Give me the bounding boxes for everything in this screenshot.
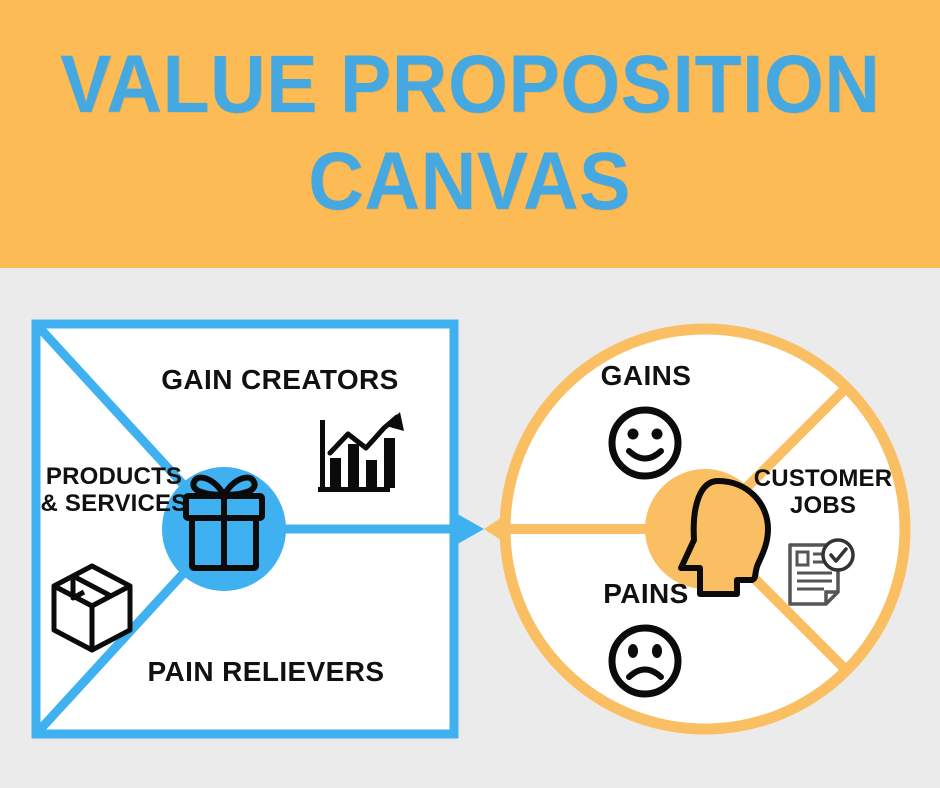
canvas-graphics [0,268,940,788]
page-title-line-1: VALUE PROPOSITION [60,37,880,134]
blue-arrow-head [454,512,484,546]
header-banner: VALUE PROPOSITION CANVAS [0,0,940,268]
products-services-center-node[interactable] [162,467,286,591]
smiley-sad-icon [612,628,678,694]
package-box-icon [54,566,130,650]
smiley-happy-icon [612,410,678,476]
page-title-line-2: CANVAS [309,134,632,231]
value-proposition-canvas-diagram: GAIN CREATORS PAIN RELIEVERS PRODUCTS & … [0,268,940,788]
